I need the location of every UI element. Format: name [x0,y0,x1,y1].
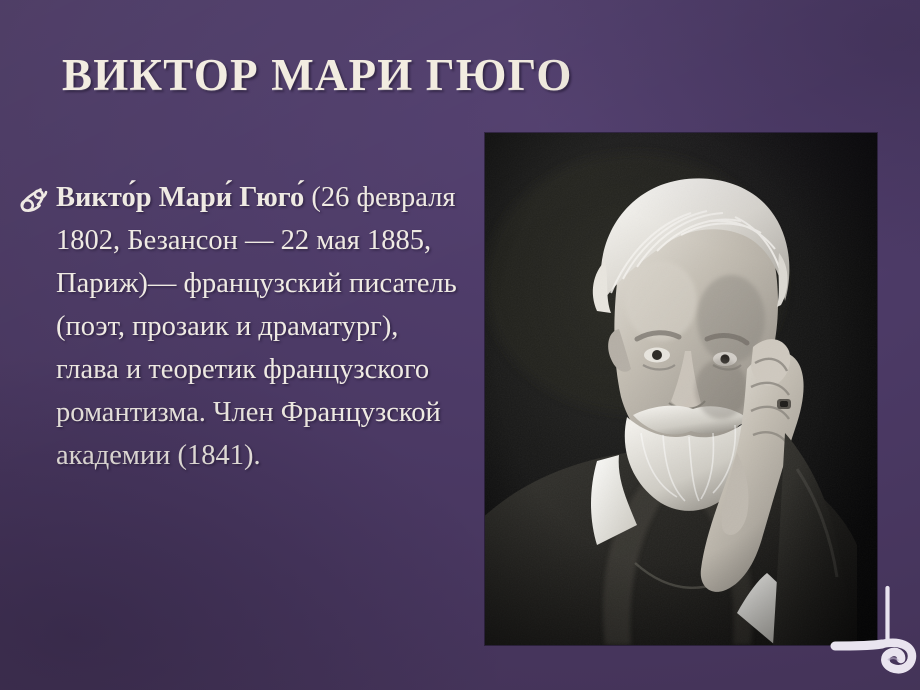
presentation-slide: ВИКТОР МАРИ ГЮГО Викто́р Мари́ Гюго́ (26… [0,0,920,690]
page-title: ВИКТОР МАРИ ГЮГО [62,52,602,99]
portrait-photo [485,133,877,645]
body-paragraph: Викто́р Мари́ Гюго́ (26 февраля 1802, Бе… [56,176,462,477]
ornamental-swirl-bullet-icon [14,180,56,220]
body-rest: (26 февраля 1802, Безансон — 22 мая 1885… [56,182,457,471]
body-lede: Викто́р Мари́ Гюго́ [56,182,304,213]
body-text-block: Викто́р Мари́ Гюго́ (26 февраля 1802, Бе… [14,176,462,477]
